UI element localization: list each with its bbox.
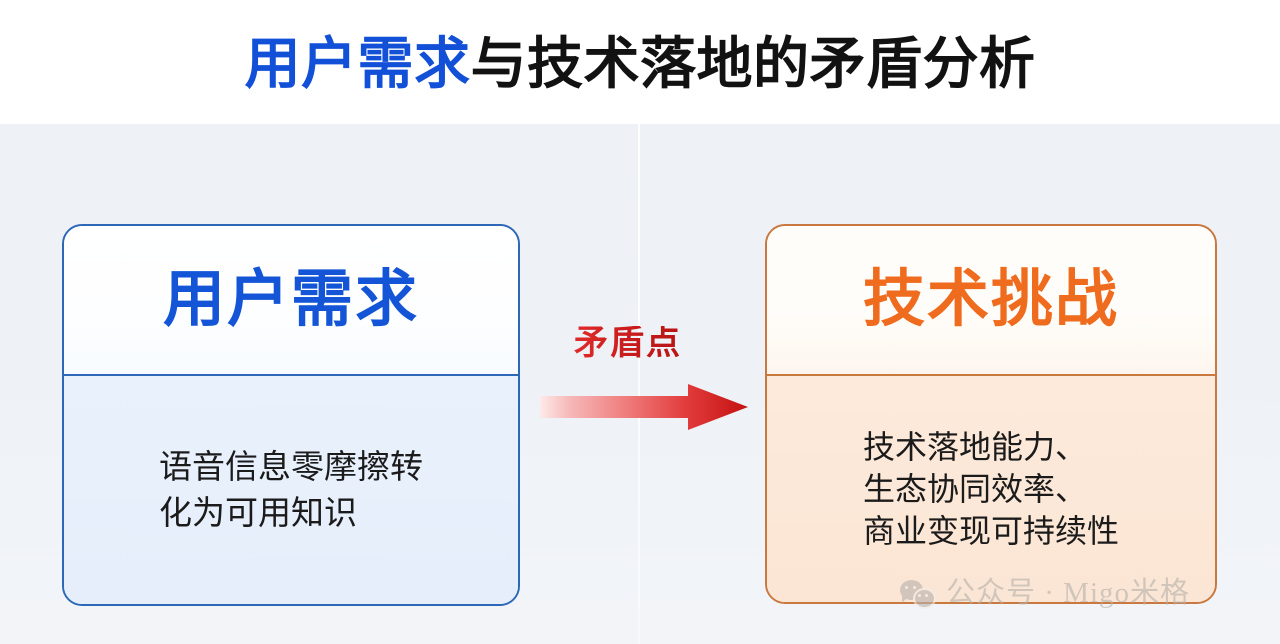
- card-user-demand-description: 语音信息零摩擦转 化为可用知识: [159, 444, 423, 535]
- card-tech-challenge-description: 技术落地能力、 生态协同效率、 商业变现可持续性: [863, 426, 1119, 553]
- page-title-rest: 与技术落地的矛盾分析: [471, 32, 1036, 95]
- card-user-demand[interactable]: 用户需求 语音信息零摩擦转 化为可用知识: [62, 224, 520, 606]
- slide-canvas: 用户需求与技术落地的矛盾分析 用户需求 语音信息零摩擦转 化为可用知识 矛盾点: [0, 0, 1280, 644]
- card-user-demand-body: 语音信息零摩擦转 化为可用知识: [64, 376, 518, 604]
- card-tech-challenge-header: 技术挑战: [767, 226, 1215, 374]
- card-user-demand-title: 用户需求: [163, 269, 419, 331]
- conflict-connector: 矛盾点: [536, 326, 752, 436]
- conflict-label: 矛盾点: [574, 326, 682, 360]
- page-title-accent: 用户需求: [245, 32, 471, 95]
- card-tech-challenge-body: 技术落地能力、 生态协同效率、 商业变现可持续性: [767, 376, 1215, 602]
- card-tech-challenge-title: 技术挑战: [863, 269, 1119, 331]
- page-title: 用户需求与技术落地的矛盾分析: [245, 36, 1036, 92]
- card-tech-challenge[interactable]: 技术挑战 技术落地能力、 生态协同效率、 商业变现可持续性: [765, 224, 1217, 604]
- right-arrow-icon: [540, 384, 748, 430]
- title-band: 用户需求与技术落地的矛盾分析: [0, 0, 1280, 124]
- card-user-demand-header: 用户需求: [64, 226, 518, 374]
